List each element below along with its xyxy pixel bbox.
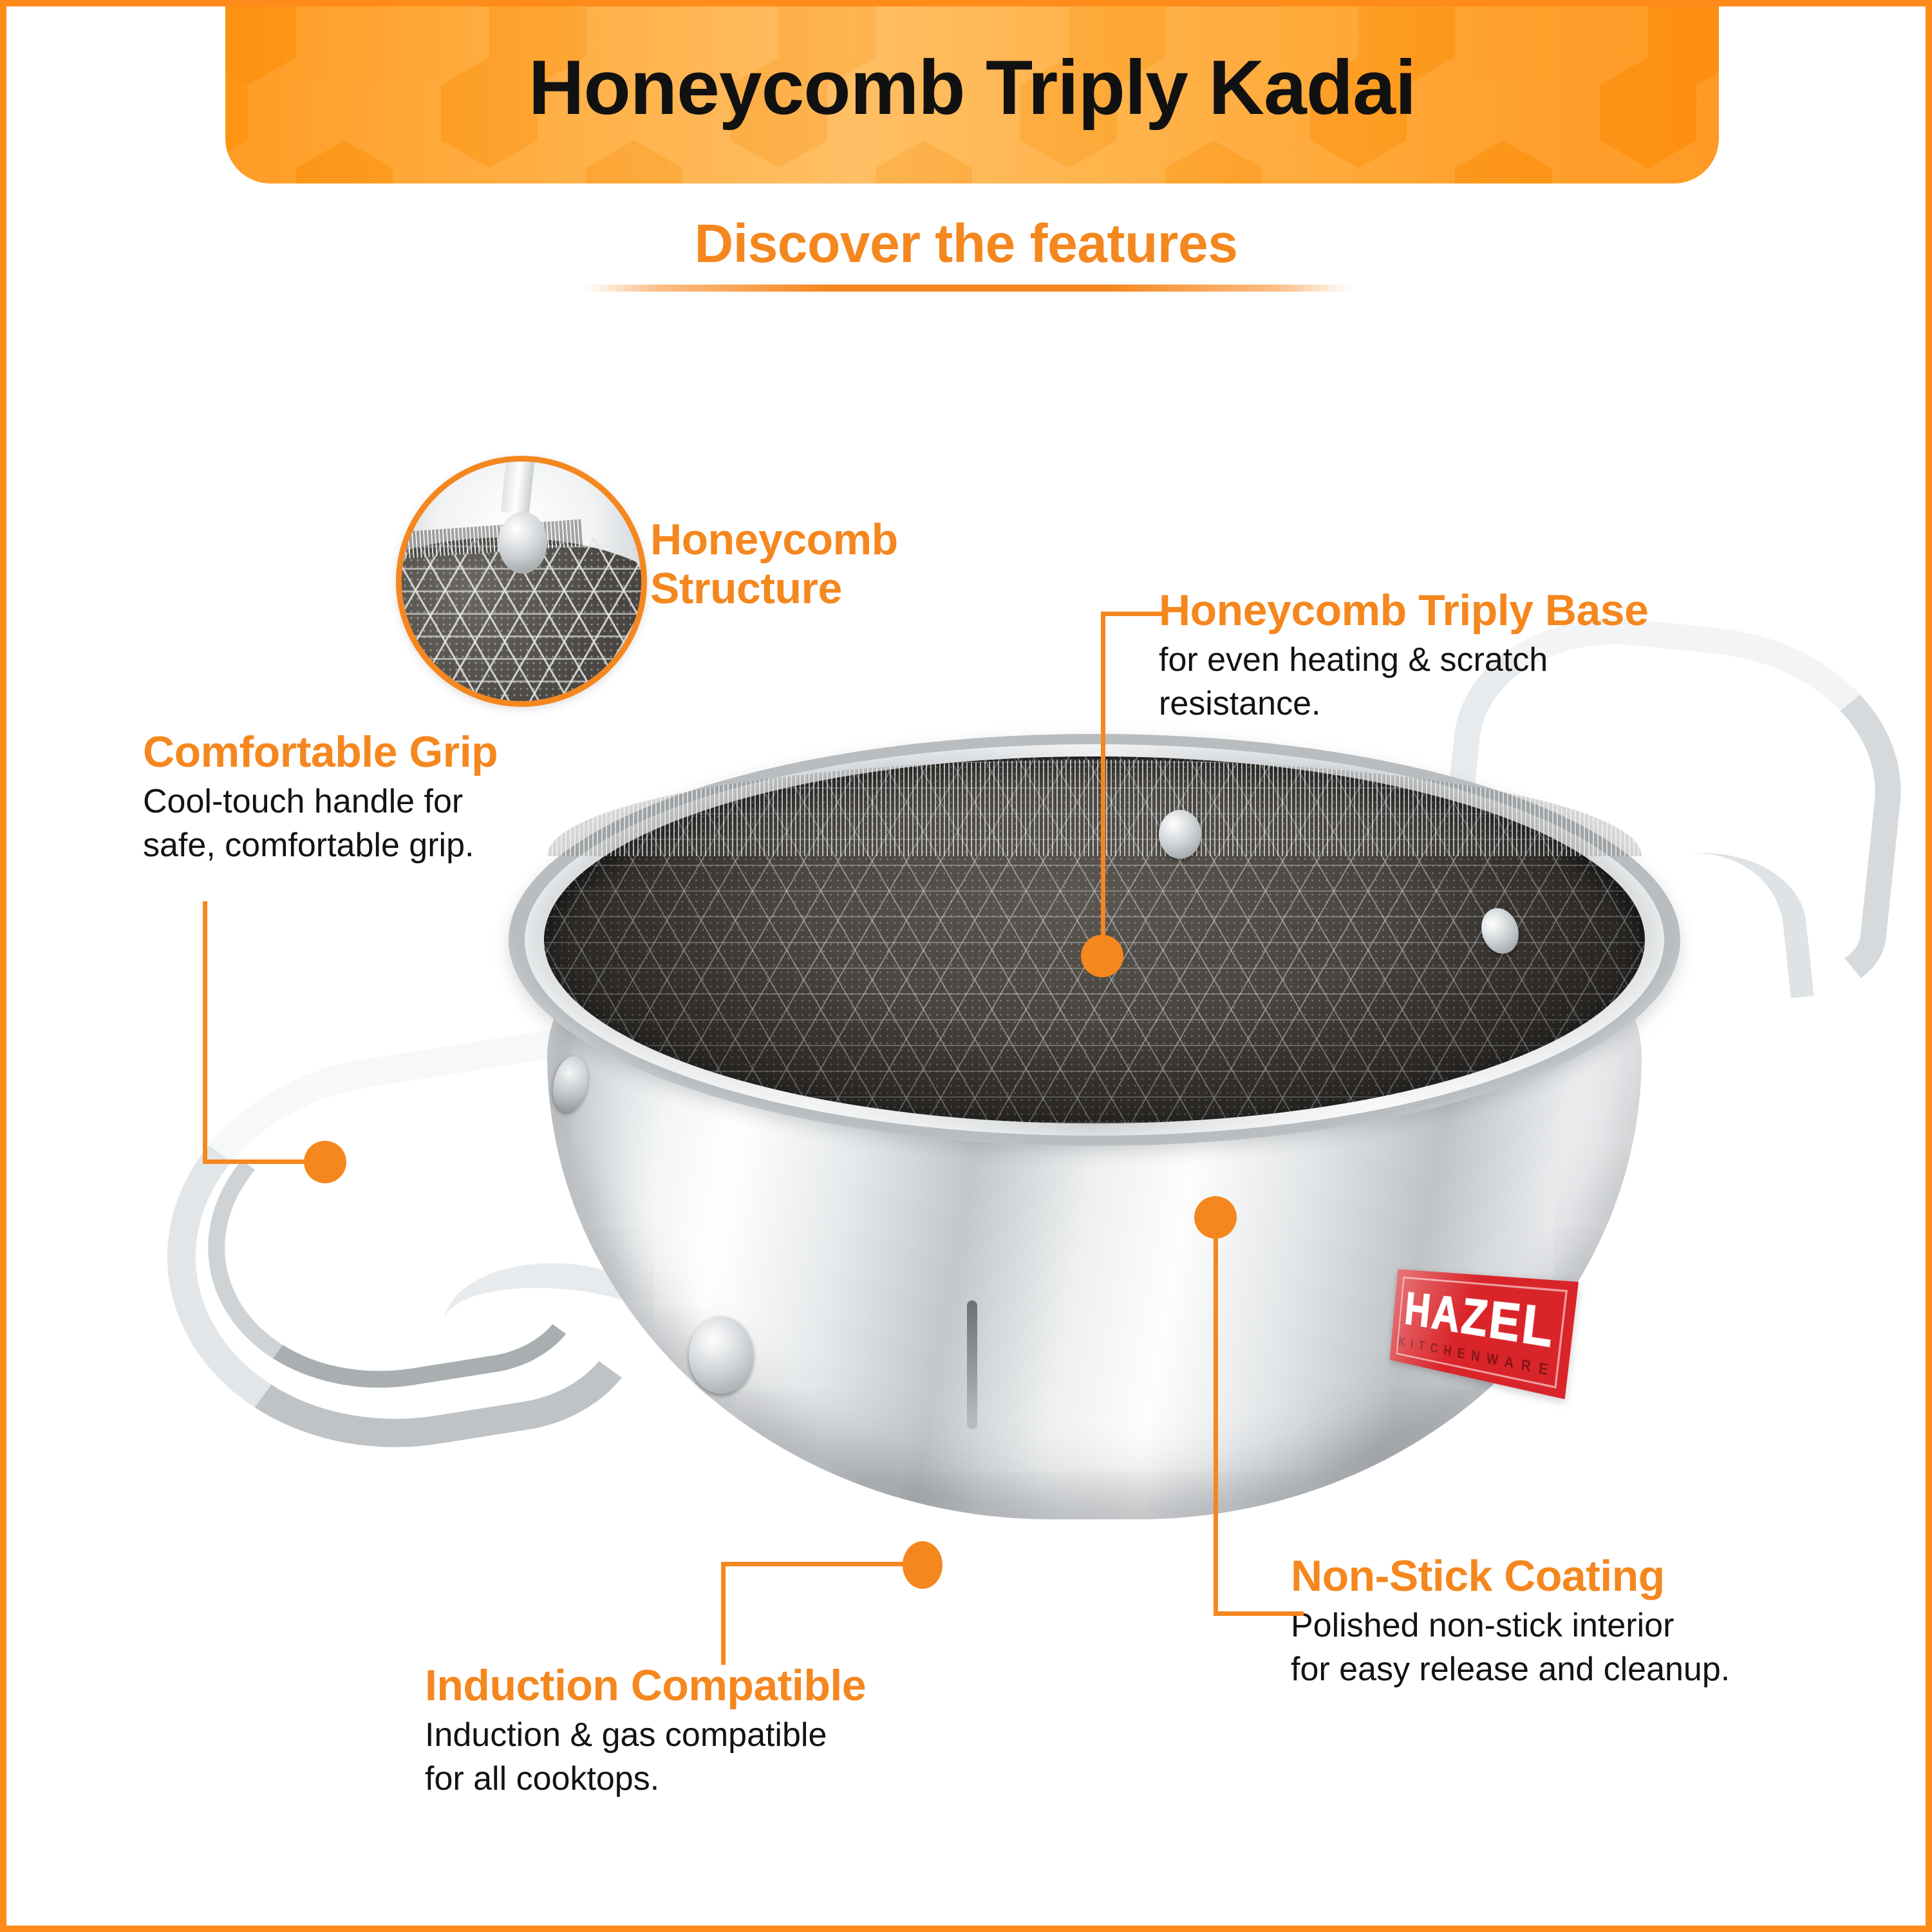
nonstick-leader-horizontal [1214,1611,1304,1616]
callout-comfortable-grip: Comfortable Grip Cool-touch handle for s… [143,727,498,867]
page-border-frame: Honeycomb Triply Kadai Discover the feat… [0,0,1932,1932]
induction-leader-vertical [721,1562,726,1665]
callout-non-stick-coating: Non-Stick Coating Polished non-stick int… [1291,1552,1730,1691]
callout-honeycomb-triply-base: Honeycomb Triply Base for even heating &… [1159,586,1648,726]
zoom-rivet-detail [498,512,547,574]
callout-title: Honeycomb Triply Base [1159,586,1648,635]
callout-body: Polished non-stick interior for easy rel… [1291,1604,1730,1691]
grip-marker-dot [304,1141,346,1183]
base-leader-stub [1101,612,1163,616]
pan-body-seam [967,1300,977,1429]
callout-title: Induction Compatible [425,1661,866,1710]
induction-marker-dot [903,1541,943,1589]
callout-title: Non-Stick Coating [1291,1552,1730,1600]
callout-honeycomb-structure: Honeycomb Structure [650,515,898,613]
rivet-left-lower [689,1317,753,1394]
base-marker-dot [1081,935,1123,977]
callout-body: for even heating & scratch resistance. [1159,639,1648,726]
base-leader-vertical [1101,612,1105,953]
header-banner: Honeycomb Triply Kadai [225,6,1719,183]
callout-induction-compatible: Induction Compatible Induction & gas com… [425,1661,866,1801]
nonstick-leader-vertical [1214,1217,1218,1616]
rivet-top [1159,810,1201,859]
grip-leader-vertical [203,901,207,1164]
induction-leader-horizontal [721,1562,927,1566]
honeycomb-zoom-circle [396,456,647,707]
callout-body: Induction & gas compatible for all cookt… [425,1714,866,1801]
callout-body: Cool-touch handle for safe, comfortable … [143,780,498,867]
infographic-canvas: Honeycomb Triply Kadai Discover the feat… [6,6,1926,1926]
section-subtitle: Discover the features [6,212,1926,275]
nonstick-marker-dot [1194,1196,1237,1239]
callout-title: Honeycomb Structure [650,515,898,613]
callout-title: Comfortable Grip [143,727,498,776]
subtitle-underline [583,285,1352,292]
page-title: Honeycomb Triply Kadai [225,6,1719,183]
